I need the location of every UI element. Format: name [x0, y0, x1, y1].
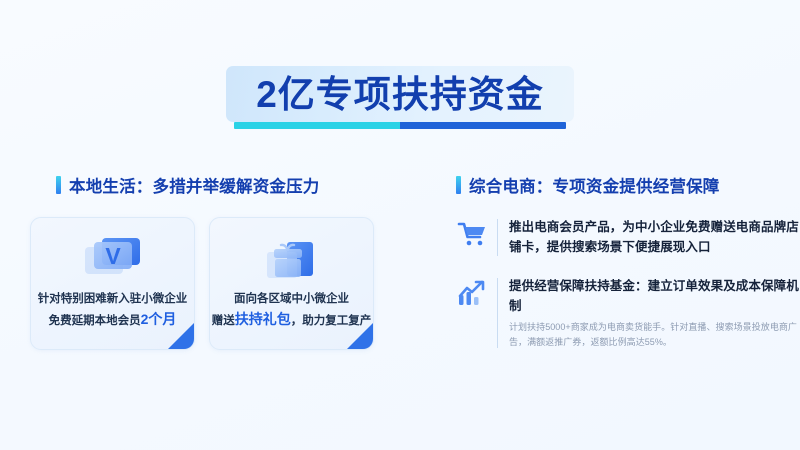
- membership-card-icon: V: [82, 233, 144, 285]
- growth-chart-icon: [456, 277, 488, 309]
- right-column: 综合电商：专项资金提供经营保障 推出电商会员产品: [400, 173, 800, 350]
- left-card-group: V 针对特别困难新入驻小微企业 免费延期本地会员2个月: [30, 217, 400, 350]
- right-section-heading: 综合电商：专项资金提供经营保障: [456, 173, 800, 197]
- item-body: 提供经营保障扶持基金：建立订单效果及成本保障机制 计划扶持5000+商家成为电商…: [509, 276, 800, 351]
- left-heading-label: 本地生活：多措并举缓解资金压力: [69, 173, 320, 197]
- support-card[interactable]: V 针对特别困难新入驻小微企业 免费延期本地会员2个月: [30, 217, 195, 350]
- item-title: 推出电商会员产品，为中小企业免费赠送电商品牌店铺卡，提供搜索场景下便捷展现入口: [509, 217, 800, 258]
- left-column: 本地生活：多措并举缓解资金压力: [0, 173, 400, 350]
- support-card[interactable]: 面向各区域中小微企业 赠送扶持礼包，助力复工复产: [209, 217, 374, 350]
- item-title: 提供经营保障扶持基金：建立订单效果及成本保障机制: [509, 276, 800, 317]
- heading-accent-bar: [456, 176, 461, 194]
- item-divider: [497, 278, 498, 349]
- card-corner-accent: [168, 323, 194, 349]
- content-columns: 本地生活：多措并举缓解资金压力: [0, 173, 800, 350]
- svg-text:V: V: [105, 243, 121, 269]
- left-section-heading: 本地生活：多措并举缓解资金压力: [56, 173, 400, 197]
- title-banner: 2亿专项扶持资金: [226, 66, 574, 122]
- card-line-1: 面向各区域中小微企业: [212, 291, 372, 309]
- list-item[interactable]: 提供经营保障扶持基金：建立订单效果及成本保障机制 计划扶持5000+商家成为电商…: [456, 276, 800, 351]
- title-underline-left: [234, 122, 400, 129]
- item-subtitle: 计划扶持5000+商家成为电商卖货能手。针对直播、搜索场景投放电商广告，满额返推…: [509, 320, 800, 350]
- page-title: 2亿专项扶持资金: [256, 76, 544, 113]
- right-item-list: 推出电商会员产品，为中小企业免费赠送电商品牌店铺卡，提供搜索场景下便捷展现入口: [456, 217, 800, 350]
- title-underline: [234, 122, 566, 129]
- item-divider: [497, 219, 498, 256]
- list-item[interactable]: 推出电商会员产品，为中小企业免费赠送电商品牌店铺卡，提供搜索场景下便捷展现入口: [456, 217, 800, 258]
- card-text-block: 针对特别困难新入驻小微企业 免费延期本地会员2个月: [38, 291, 188, 331]
- right-heading-label: 综合电商：专项资金提供经营保障: [469, 173, 720, 197]
- title-plate: 2亿专项扶持资金: [226, 66, 574, 122]
- card-line-1: 针对特别困难新入驻小微企业: [38, 291, 188, 309]
- card-line-2-highlight: 扶持礼包: [235, 311, 291, 327]
- card-line-2-prefix: 赠送: [212, 315, 235, 327]
- shopping-cart-icon: [456, 218, 488, 250]
- title-underline-right: [400, 122, 566, 129]
- card-line-2-prefix: 免费延期本地会员: [49, 315, 141, 327]
- card-corner-accent: [347, 323, 373, 349]
- gift-box-icon: [261, 233, 323, 285]
- card-line-2: 免费延期本地会员2个月: [38, 309, 188, 331]
- heading-accent-bar: [56, 176, 61, 194]
- item-body: 推出电商会员产品，为中小企业免费赠送电商品牌店铺卡，提供搜索场景下便捷展现入口: [509, 217, 800, 258]
- slide-canvas: 2亿专项扶持资金 本地生活：多措并举缓解资金压力: [0, 0, 800, 450]
